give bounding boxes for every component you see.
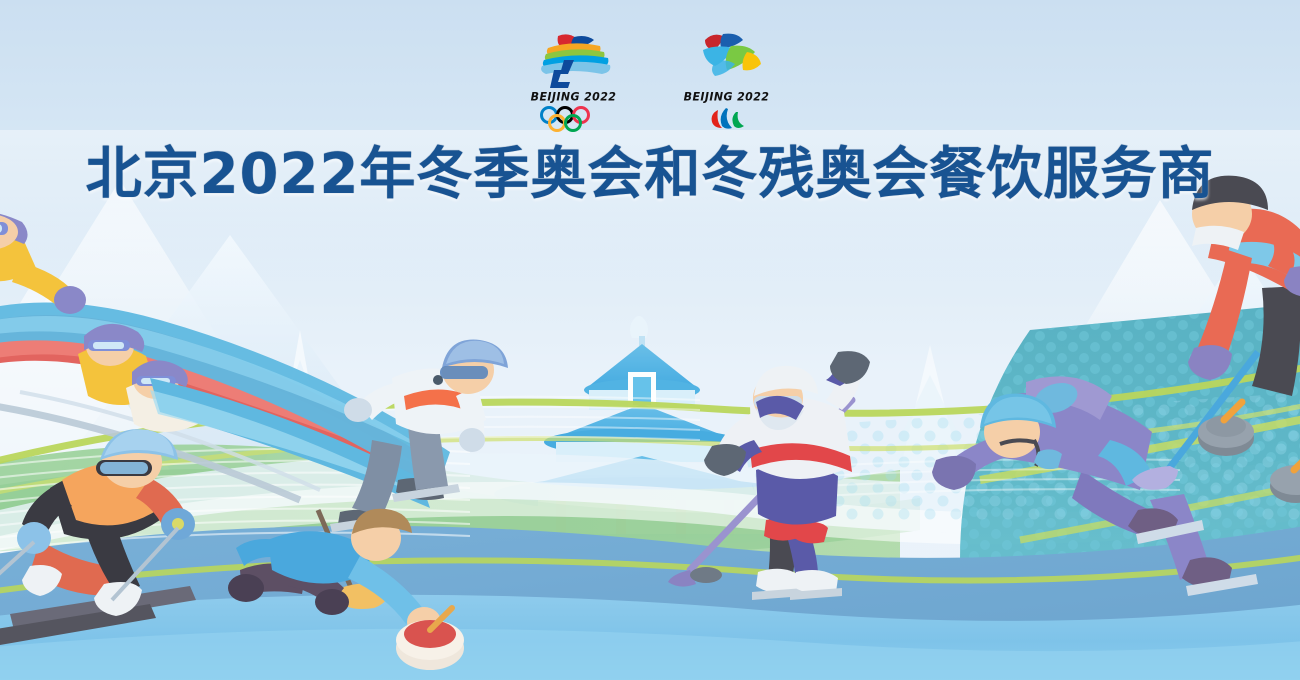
curler-sweeper	[1132, 176, 1300, 503]
curling-stone-orange	[1198, 402, 1254, 456]
speed-skater	[932, 376, 1258, 596]
curler-delivery	[228, 509, 464, 670]
olympic-rings-icon	[535, 106, 613, 132]
paralympic-emblem-mark	[681, 30, 773, 88]
olympic-wordmark: BEIJING 2022	[531, 89, 617, 103]
ice-hockey-player	[668, 351, 870, 600]
paralympic-agitos-icon	[688, 106, 766, 132]
emblem-row: BEIJING 2022	[0, 30, 1300, 138]
curling-stone-orange-2	[1270, 454, 1300, 503]
olympic-emblem-mark	[528, 30, 620, 88]
paralympic-wordmark: BEIJING 2022	[684, 89, 770, 103]
page-title: 北京2022年冬季奥会和冬残奥会餐饮服务商	[0, 143, 1300, 207]
beijing-2022-paralympic-emblem: BEIJING 2022	[674, 30, 779, 132]
olympic-banner: BEIJING 2022	[0, 0, 1300, 680]
hockey-puck	[690, 567, 722, 583]
beijing-2022-olympic-emblem: BEIJING 2022	[521, 30, 626, 132]
alpine-skier	[0, 429, 196, 646]
